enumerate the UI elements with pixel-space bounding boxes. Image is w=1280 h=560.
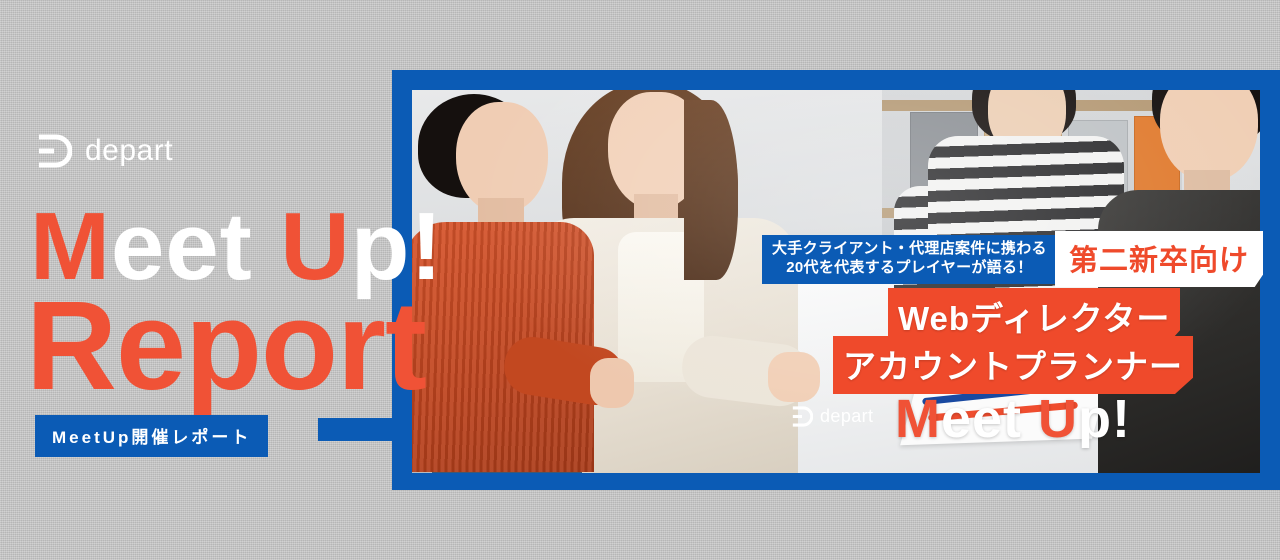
brand-name: depart	[85, 134, 173, 168]
blue-accent-bar	[318, 418, 408, 441]
photo-title-p: p!	[1078, 389, 1131, 449]
lead-copy-box: 大手クライアント・代理店案件に携わる 20代を代表するプレイヤーが語る！	[762, 235, 1057, 284]
brand-logo: depart	[36, 134, 173, 168]
photo-title-m: M	[895, 389, 941, 449]
lead-copy-line-2: 20代を代表するプレイヤーが語る！	[772, 259, 1047, 278]
photo-title-meetup: Meet Up!	[895, 392, 1131, 446]
target-audience-label: 第二新卒向け	[1055, 231, 1263, 287]
depart-d-mark-icon	[791, 406, 813, 427]
depart-d-mark-icon	[36, 134, 72, 168]
role-label-account-planner: アカウントプランナー	[833, 336, 1193, 394]
status-badge: MeetUp開催レポート	[35, 415, 268, 457]
lead-copy-line-1: 大手クライアント・代理店案件に携わる	[772, 240, 1047, 259]
brand-logo-photo: depart	[791, 406, 873, 427]
photo-title-u: U	[1038, 389, 1078, 449]
page-title-report: Report	[26, 283, 426, 409]
photo-title-eet: eet	[941, 389, 1038, 449]
brand-name-photo: depart	[820, 406, 873, 427]
